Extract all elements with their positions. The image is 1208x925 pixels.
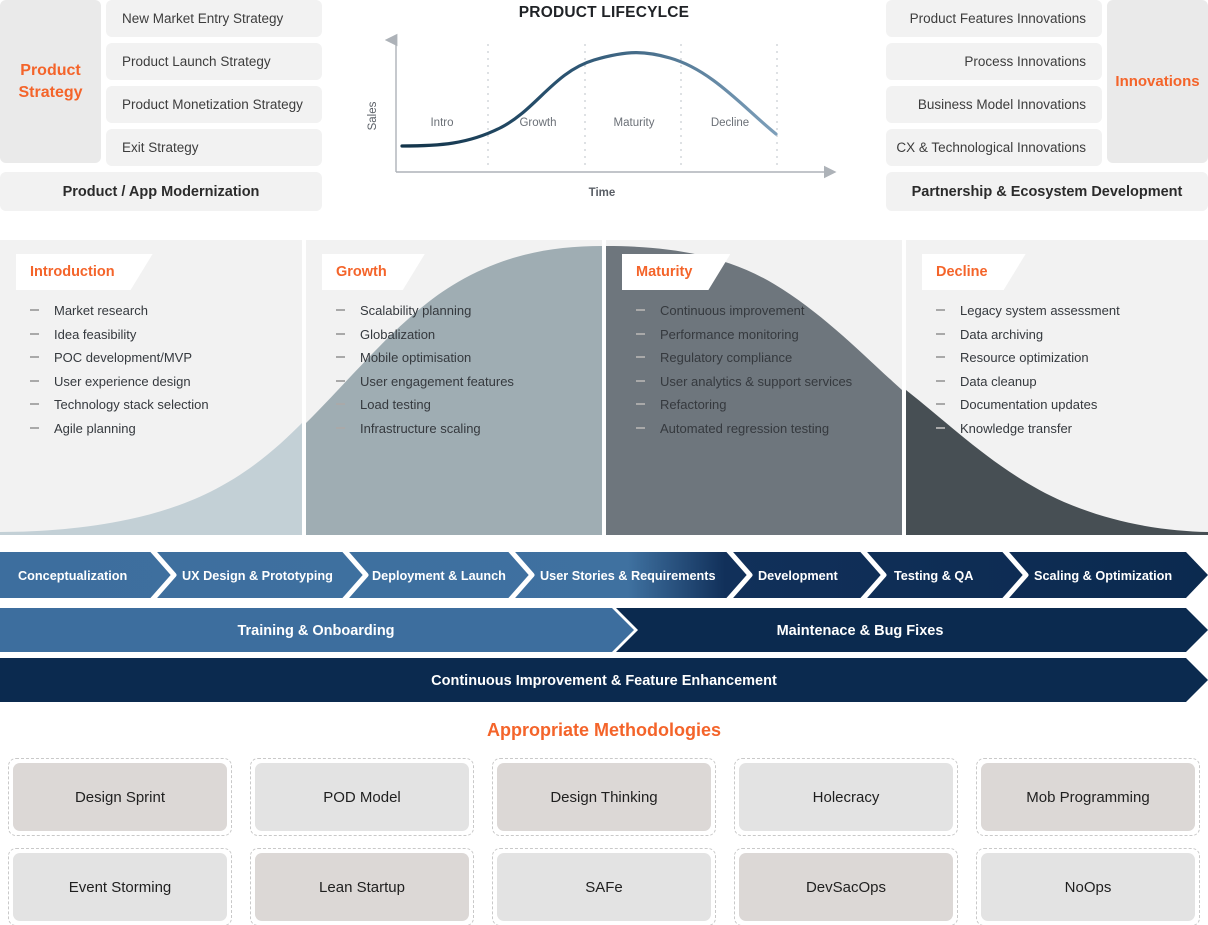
methodology-card-lean-startup[interactable]: Lean Startup	[255, 853, 469, 921]
top-row: ProductStrategy New Market Entry Strateg…	[0, 0, 1208, 212]
product-strategy-label: ProductStrategy	[0, 0, 101, 163]
stage-panel-growth: Growth Scalability planning Globalizatio…	[306, 240, 602, 535]
continuous-improvement-label: Continuous Improvement & Feature Enhance…	[431, 673, 777, 689]
band-three-svg: Continuous Improvement & Feature Enhance…	[0, 658, 1208, 702]
phase-label-0: Intro	[430, 117, 453, 129]
methodology-slot-3: Holecracy	[734, 758, 958, 836]
innovation-item-1[interactable]: Process Innovations	[886, 43, 1102, 80]
stage-tag-introduction: Introduction	[16, 254, 153, 290]
list-item: Idea feasibility	[30, 328, 209, 341]
stage-panel-decline: Decline Legacy system assessment Data ar…	[906, 240, 1208, 535]
stage-panel-introduction: Introduction Market research Idea feasib…	[0, 240, 302, 535]
process-chevron-band: Conceptualization UX Design & Prototypin…	[0, 552, 1208, 598]
methodology-card-event-storming[interactable]: Event Storming	[13, 853, 227, 921]
list-item: Documentation updates	[936, 398, 1120, 411]
list-item: User engagement features	[336, 375, 514, 388]
methodology-slot-8: DevSacOps	[734, 848, 958, 925]
training-onboarding-label: Training & Onboarding	[237, 623, 394, 639]
list-item: Data archiving	[936, 328, 1120, 341]
methodology-slot-2: Design Thinking	[492, 758, 716, 836]
methodology-card-design-sprint[interactable]: Design Sprint	[13, 763, 227, 831]
phase-label-3: Decline	[711, 117, 749, 129]
methodology-card-safe[interactable]: SAFe	[497, 853, 711, 921]
list-item: Agile planning	[30, 422, 209, 435]
list-item: User analytics & support services	[636, 375, 852, 388]
list-item: Knowledge transfer	[936, 422, 1120, 435]
innovations-label: Innovations	[1107, 0, 1208, 163]
stage-panels: Introduction Market research Idea feasib…	[0, 240, 1208, 535]
strategy-item-0[interactable]: New Market Entry Strategy	[106, 0, 322, 37]
product-strategy-block: ProductStrategy New Market Entry Strateg…	[0, 0, 322, 212]
maintenance-bugfixes-label: Maintenace & Bug Fixes	[777, 623, 944, 639]
chevron-band-svg: Conceptualization UX Design & Prototypin…	[0, 552, 1208, 598]
strategy-item-1[interactable]: Product Launch Strategy	[106, 43, 322, 80]
continuous-improvement-band: Continuous Improvement & Feature Enhance…	[0, 658, 1208, 702]
product-app-modernization-bar[interactable]: Product / App Modernization	[0, 172, 322, 211]
innovation-item-3[interactable]: CX & Technological Innovations	[886, 129, 1102, 166]
list-item: Performance monitoring	[636, 328, 852, 341]
chevron-step-2: Deployment & Launch	[372, 569, 506, 583]
chevron-step-4: Development	[758, 569, 838, 583]
innovation-item-2[interactable]: Business Model Innovations	[886, 86, 1102, 123]
methodology-slot-5: Event Storming	[8, 848, 232, 925]
methodology-slot-4: Mob Programming	[976, 758, 1200, 836]
product-lifecycle-infographic: ProductStrategy New Market Entry Strateg…	[0, 0, 1208, 925]
methodologies-title: Appropriate Methodologies	[0, 720, 1208, 741]
methodology-slot-1: POD Model	[250, 758, 474, 836]
stage-list-maturity: Continuous improvement Performance monit…	[636, 304, 852, 445]
list-item: Data cleanup	[936, 375, 1120, 388]
strategy-item-2[interactable]: Product Monetization Strategy	[106, 86, 322, 123]
band-two-svg: Training & Onboarding Maintenace & Bug F…	[0, 608, 1208, 652]
methodology-slot-6: Lean Startup	[250, 848, 474, 925]
methodology-slot-0: Design Sprint	[8, 758, 232, 836]
stage-list-decline: Legacy system assessment Data archiving …	[936, 304, 1120, 445]
training-maintenance-band: Training & Onboarding Maintenace & Bug F…	[0, 608, 1208, 652]
list-item: Legacy system assessment	[936, 304, 1120, 317]
methodologies-grid: Design Sprint POD Model Design Thinking …	[8, 758, 1200, 925]
list-item: Automated regression testing	[636, 422, 852, 435]
chevron-step-1: UX Design & Prototyping	[182, 569, 333, 583]
chart-title: PRODUCT LIFECYLCE	[340, 4, 868, 22]
lifecycle-curve	[402, 53, 776, 146]
stage-panel-maturity: Maturity Continuous improvement Performa…	[606, 240, 902, 535]
list-item: Refactoring	[636, 398, 852, 411]
chevron-step-5: Testing & QA	[894, 569, 973, 583]
methodology-card-noops[interactable]: NoOps	[981, 853, 1195, 921]
list-item: Mobile optimisation	[336, 351, 514, 364]
methodology-card-design-thinking[interactable]: Design Thinking	[497, 763, 711, 831]
list-item: Scalability planning	[336, 304, 514, 317]
chevron-step-0: Conceptualization	[18, 569, 127, 583]
methodology-slot-7: SAFe	[492, 848, 716, 925]
stage-list-growth: Scalability planning Globalization Mobil…	[336, 304, 514, 445]
list-item: Regulatory compliance	[636, 351, 852, 364]
innovation-item-0[interactable]: Product Features Innovations	[886, 0, 1102, 37]
product-strategy-items: New Market Entry Strategy Product Launch…	[106, 0, 322, 172]
strategy-item-3[interactable]: Exit Strategy	[106, 129, 322, 166]
lifecycle-curve-svg: Intro Growth Maturity Decline Sales Time	[340, 24, 840, 209]
phase-label-2: Maturity	[614, 117, 655, 129]
methodology-card-mob-programming[interactable]: Mob Programming	[981, 763, 1195, 831]
stage-list-introduction: Market research Idea feasibility POC dev…	[30, 304, 209, 445]
phase-label-1: Growth	[519, 117, 556, 129]
x-axis-label: Time	[589, 187, 616, 199]
methodology-card-devsacops[interactable]: DevSacOps	[739, 853, 953, 921]
list-item: Load testing	[336, 398, 514, 411]
methodology-card-pod-model[interactable]: POD Model	[255, 763, 469, 831]
list-item: Resource optimization	[936, 351, 1120, 364]
methodology-slot-9: NoOps	[976, 848, 1200, 925]
list-item: Technology stack selection	[30, 398, 209, 411]
partnership-ecosystem-bar[interactable]: Partnership & Ecosystem Development	[886, 172, 1208, 211]
list-item: Globalization	[336, 328, 514, 341]
chevron-step-6: Scaling & Optimization	[1034, 569, 1172, 583]
list-item: Continuous improvement	[636, 304, 852, 317]
y-axis-label: Sales	[367, 101, 379, 130]
innovations-items: Product Features Innovations Process Inn…	[886, 0, 1102, 172]
innovations-block: Innovations Product Features Innovations…	[886, 0, 1208, 212]
list-item: User experience design	[30, 375, 209, 388]
list-item: POC development/MVP	[30, 351, 209, 364]
methodology-card-holecracy[interactable]: Holecracy	[739, 763, 953, 831]
chevron-step-3: User Stories & Requirements	[540, 569, 716, 583]
list-item: Infrastructure scaling	[336, 422, 514, 435]
product-lifecycle-chart: PRODUCT LIFECYLCE	[340, 0, 868, 212]
list-item: Market research	[30, 304, 209, 317]
